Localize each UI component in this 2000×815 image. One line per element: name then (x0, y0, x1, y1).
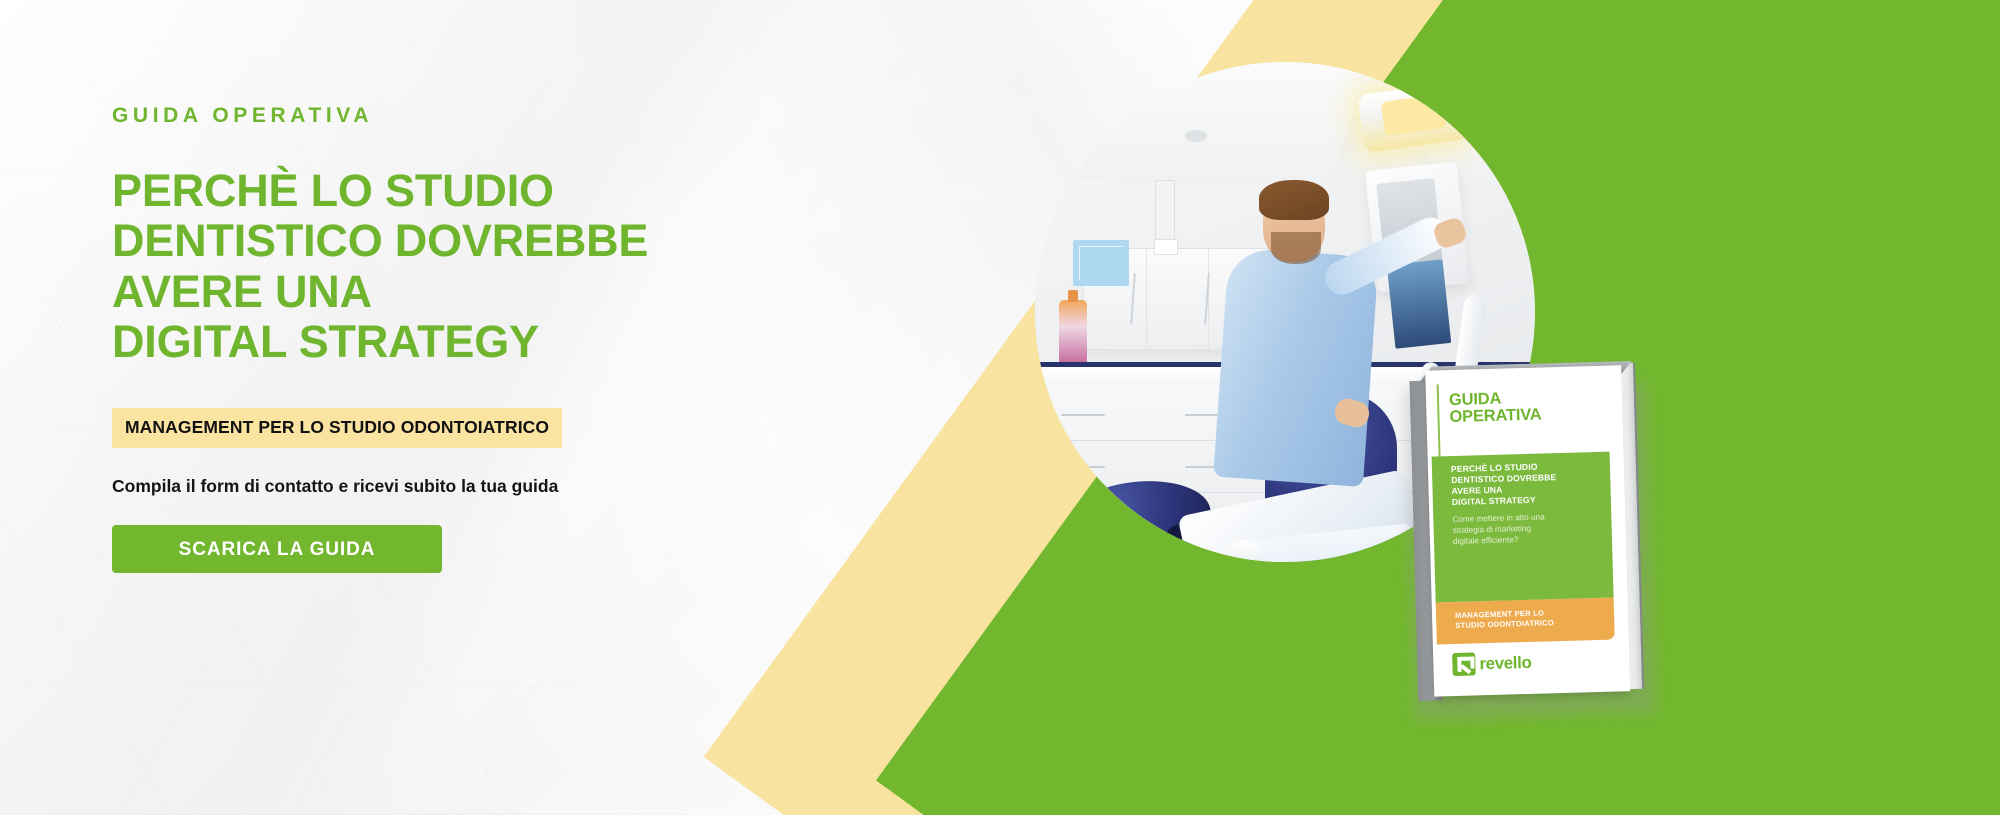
book-orange-band: MANAGEMENT PER LO STUDIO ODONTOIATRICO (1436, 598, 1615, 645)
photo-ceiling-light (1185, 130, 1207, 142)
photo-soap-dispenser (1155, 180, 1175, 244)
book-cover-subtitle: Come mettere in atto una strategia di ma… (1452, 510, 1602, 548)
lead-text: Compila il form di contatto e ricevi sub… (112, 476, 832, 497)
revello-r-mark-icon (1452, 652, 1476, 676)
photo-bottle (1059, 300, 1087, 370)
book-cover-title: GUIDA OPERATIVA (1449, 388, 1613, 428)
photo-xray-screen (1387, 259, 1451, 348)
photo-chair-stem (1113, 548, 1123, 562)
guide-book-mockup: GUIDA OPERATIVA PERCHÈ LO STUDIO DENTIST… (1409, 375, 1640, 707)
promo-banner: GUIDA OPERATIVA PERCHÈ LO STUDIO DENTIST… (0, 0, 2000, 815)
download-guide-button[interactable]: SCARICA LA GUIDA (112, 525, 442, 573)
book-cover-footer-band: MANAGEMENT PER LO STUDIO ODONTOIATRICO (1455, 607, 1607, 632)
revello-logo-text: revello (1479, 652, 1532, 673)
photo-blue-towel (1073, 240, 1129, 286)
photo-dentist-beard (1271, 232, 1321, 264)
revello-r-leg-icon (1460, 664, 1471, 674)
book-cover-headline: PERCHÈ LO STUDIO DENTISTICO DOVREBBE AVE… (1451, 460, 1603, 508)
page-title: PERCHÈ LO STUDIO DENTISTICO DOVREBBE AVE… (112, 166, 832, 368)
highlight-subtitle-bar: MANAGEMENT PER LO STUDIO ODONTOIATRICO (112, 408, 562, 448)
photo-dentist-hair (1259, 180, 1329, 220)
banner-copy-block: GUIDA OPERATIVA PERCHÈ LO STUDIO DENTIST… (112, 104, 832, 573)
revello-logo: revello (1452, 651, 1532, 676)
book-green-panel: PERCHÈ LO STUDIO DENTISTICO DOVREBBE AVE… (1432, 452, 1614, 603)
book-front-cover: GUIDA OPERATIVA PERCHÈ LO STUDIO DENTIST… (1425, 365, 1630, 696)
eyebrow-label: GUIDA OPERATIVA (112, 104, 832, 128)
